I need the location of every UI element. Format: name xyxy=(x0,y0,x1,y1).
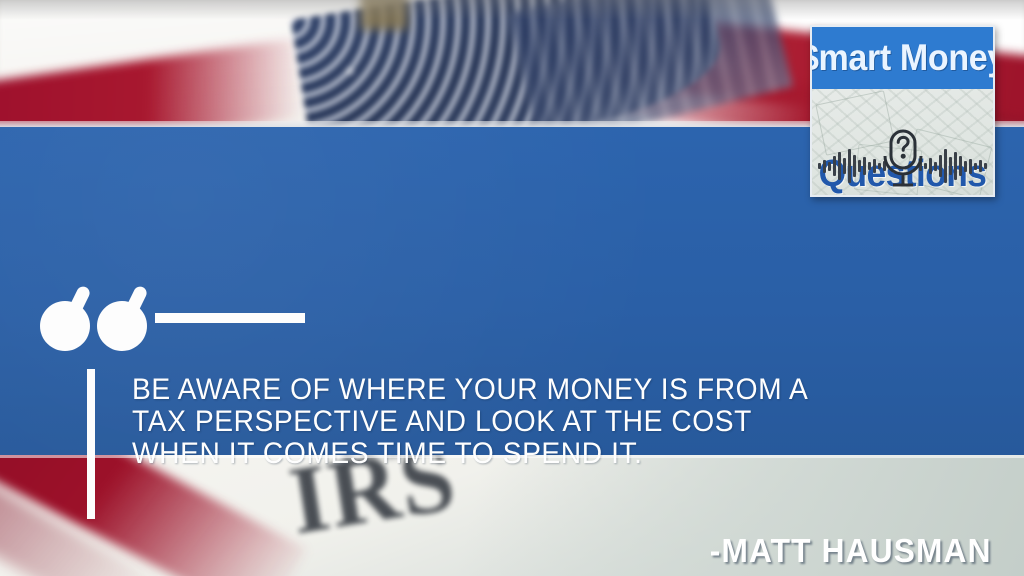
quote-line-2: TAX PERSPECTIVE AND LOOK AT THE COST xyxy=(132,406,912,438)
waveform-bar xyxy=(939,155,942,177)
waveform-bar xyxy=(934,162,937,171)
quote-rule-divider xyxy=(155,313,305,323)
waveform-bar xyxy=(843,158,846,174)
quote-accent-bar xyxy=(87,369,95,519)
photo-top-shadow xyxy=(0,0,1024,20)
waveform-bar xyxy=(979,160,982,172)
waveform-bar xyxy=(838,152,841,180)
waveform-bar xyxy=(954,152,957,180)
logo-title-top: $mart Money xyxy=(810,37,995,79)
quote-mark-second xyxy=(97,285,147,351)
microphone-question-icon xyxy=(880,129,926,191)
quote-line-3: WHEN IT COMES TIME TO SPEND IT. xyxy=(132,438,912,470)
logo-header-band: $mart Money xyxy=(812,27,993,89)
panel-bottom-highlight xyxy=(0,455,1024,458)
waveform-bar xyxy=(984,163,987,169)
quote-line-1: BE AWARE OF WHERE YOUR MONEY IS FROM A xyxy=(132,374,912,406)
waveform-right-icon xyxy=(919,149,987,183)
waveform-bar xyxy=(873,159,876,173)
waveform-bar xyxy=(823,160,826,173)
waveform-bar xyxy=(964,161,967,172)
waveform-left-icon xyxy=(818,149,886,183)
quote-attribution: -MATT HAUSMAN xyxy=(710,532,992,570)
waveform-bar xyxy=(969,159,972,174)
logo-artwork: Questions xyxy=(812,89,993,197)
quote-mark-first xyxy=(40,285,90,351)
waveform-bar xyxy=(949,157,952,175)
open-quote-icon xyxy=(40,285,150,351)
waveform-bar xyxy=(863,157,866,175)
quote-card: REV IRS BE AWARE OF WHERE YOUR MONEY IS … xyxy=(0,0,1024,576)
waveform-bar xyxy=(929,158,932,174)
waveform-bar xyxy=(828,162,831,171)
podcast-logo[interactable]: $mart Money Questions xyxy=(810,25,995,197)
waveform-bar xyxy=(848,149,851,183)
waveform-bar xyxy=(853,155,856,177)
waveform-bar xyxy=(944,149,947,183)
waveform-bar xyxy=(868,162,871,170)
waveform-bar xyxy=(833,156,836,176)
waveform-bar xyxy=(974,163,977,170)
waveform-bar xyxy=(818,163,821,169)
waveform-bar xyxy=(959,156,962,176)
waveform-bar xyxy=(858,160,861,172)
